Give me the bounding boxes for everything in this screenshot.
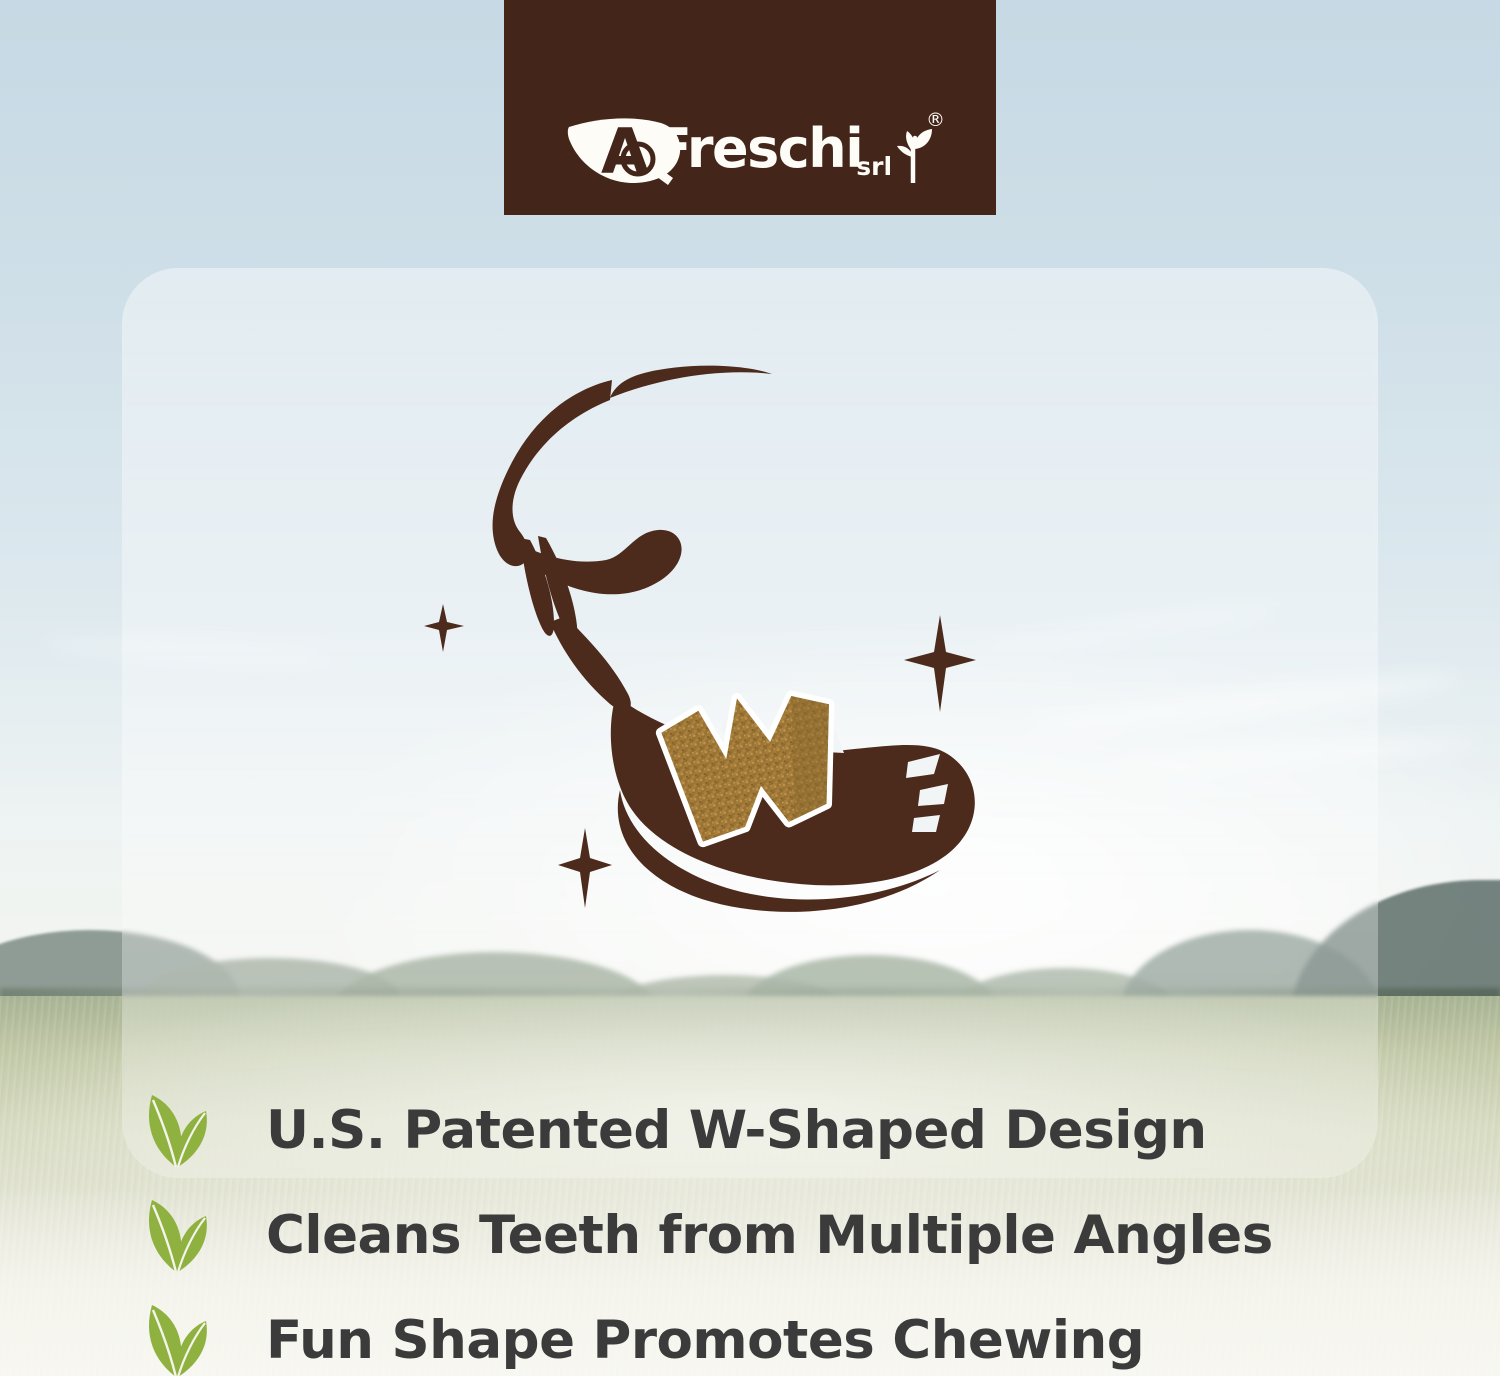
brand-logo-lockup: A Freschi srl ® — [567, 113, 933, 185]
brand-suffix-text: srl — [856, 154, 892, 179]
sparkle-icon — [904, 615, 976, 712]
dog-mouth-illustration — [420, 360, 1020, 960]
benefit-item: Cleans Teeth from Multiple Angles — [140, 1183, 1460, 1288]
product-feature-banner: A Freschi srl ® — [0, 0, 1500, 1376]
benefit-label: Fun Shape Promotes Chewing — [266, 1314, 1144, 1367]
sparkle-icon — [424, 604, 464, 652]
benefit-list: U.S. Patented W-Shaped Design Cleans Tee… — [140, 1078, 1460, 1376]
benefit-label: Cleans Teeth from Multiple Angles — [266, 1209, 1273, 1262]
benefit-item: Fun Shape Promotes Chewing — [140, 1288, 1460, 1376]
upper-jaw-outline — [493, 366, 772, 711]
benefit-label: U.S. Patented W-Shaped Design — [266, 1104, 1207, 1157]
brand-name-text: Freschi — [655, 122, 862, 176]
sparkle-icon — [558, 828, 612, 908]
sprout-icon — [893, 127, 933, 183]
leaf-icon — [140, 1303, 214, 1376]
leaf-icon — [140, 1198, 214, 1274]
benefit-item: U.S. Patented W-Shaped Design — [140, 1078, 1460, 1183]
leaf-icon — [140, 1093, 214, 1169]
registered-trademark-symbol: ® — [926, 109, 945, 131]
brand-header-bar: A Freschi srl ® — [504, 0, 996, 215]
